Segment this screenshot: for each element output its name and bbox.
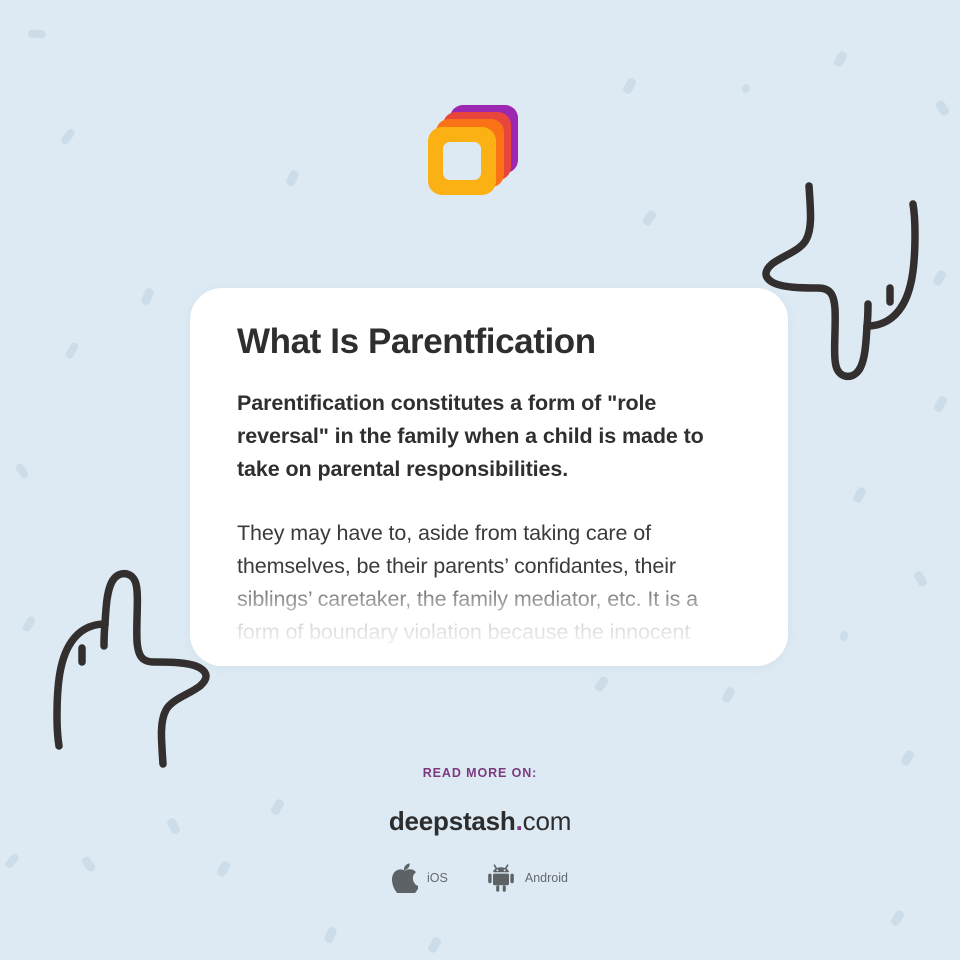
brand-wordmark[interactable]: deepstash.com: [0, 806, 960, 837]
brand-name: deepstash: [389, 806, 516, 836]
confetti-dash: [60, 127, 77, 145]
page-title: What Is Parentfication: [237, 322, 744, 363]
confetti-dash: [741, 83, 752, 94]
confetti-dash: [593, 675, 609, 693]
android-label: Android: [525, 871, 568, 885]
app-store-badges: iOS: [0, 863, 960, 893]
confetti-dash: [913, 570, 929, 588]
confetti-dash: [833, 50, 849, 68]
confetti-dash: [14, 462, 29, 480]
confetti-dash: [140, 287, 155, 306]
hand-pointing-up-icon: [22, 556, 212, 776]
read-more-label: READ MORE ON:: [0, 766, 960, 780]
android-store-link[interactable]: Android: [486, 863, 568, 893]
apple-icon: [392, 863, 418, 893]
confetti-dash: [721, 686, 737, 704]
confetti-dash: [323, 926, 338, 944]
confetti-dash: [21, 615, 36, 633]
deepstash-logo: [428, 105, 518, 197]
content-card: What Is Parentfication Parentification c…: [190, 288, 788, 666]
confetti-dash: [427, 936, 443, 954]
confetti-dash: [934, 99, 950, 117]
confetti-dash: [839, 630, 850, 642]
footer: READ MORE ON: deepstash.com iOS: [0, 766, 960, 893]
logo-center-cutout: [443, 142, 481, 180]
confetti-dash: [28, 30, 46, 39]
brand-tld: com: [523, 806, 572, 836]
confetti-dash: [889, 909, 905, 927]
ios-label: iOS: [427, 871, 448, 885]
poster-canvas: What Is Parentfication Parentification c…: [0, 0, 960, 960]
confetti-dash: [641, 209, 657, 227]
confetti-dash: [932, 269, 948, 287]
confetti-dash: [933, 395, 949, 413]
brand-dot: .: [516, 806, 523, 836]
card-lede-text: Parentification constitutes a form of "r…: [237, 387, 744, 487]
android-icon: [486, 863, 516, 893]
hand-pointing-icon: [760, 174, 950, 394]
confetti-dash: [622, 77, 638, 95]
confetti-dash: [285, 169, 300, 187]
confetti-dash: [900, 749, 916, 767]
ios-store-link[interactable]: iOS: [392, 863, 448, 893]
card-body-text: They may have to, aside from taking care…: [237, 517, 744, 650]
confetti-dash: [852, 486, 868, 504]
confetti-dash: [64, 341, 79, 360]
